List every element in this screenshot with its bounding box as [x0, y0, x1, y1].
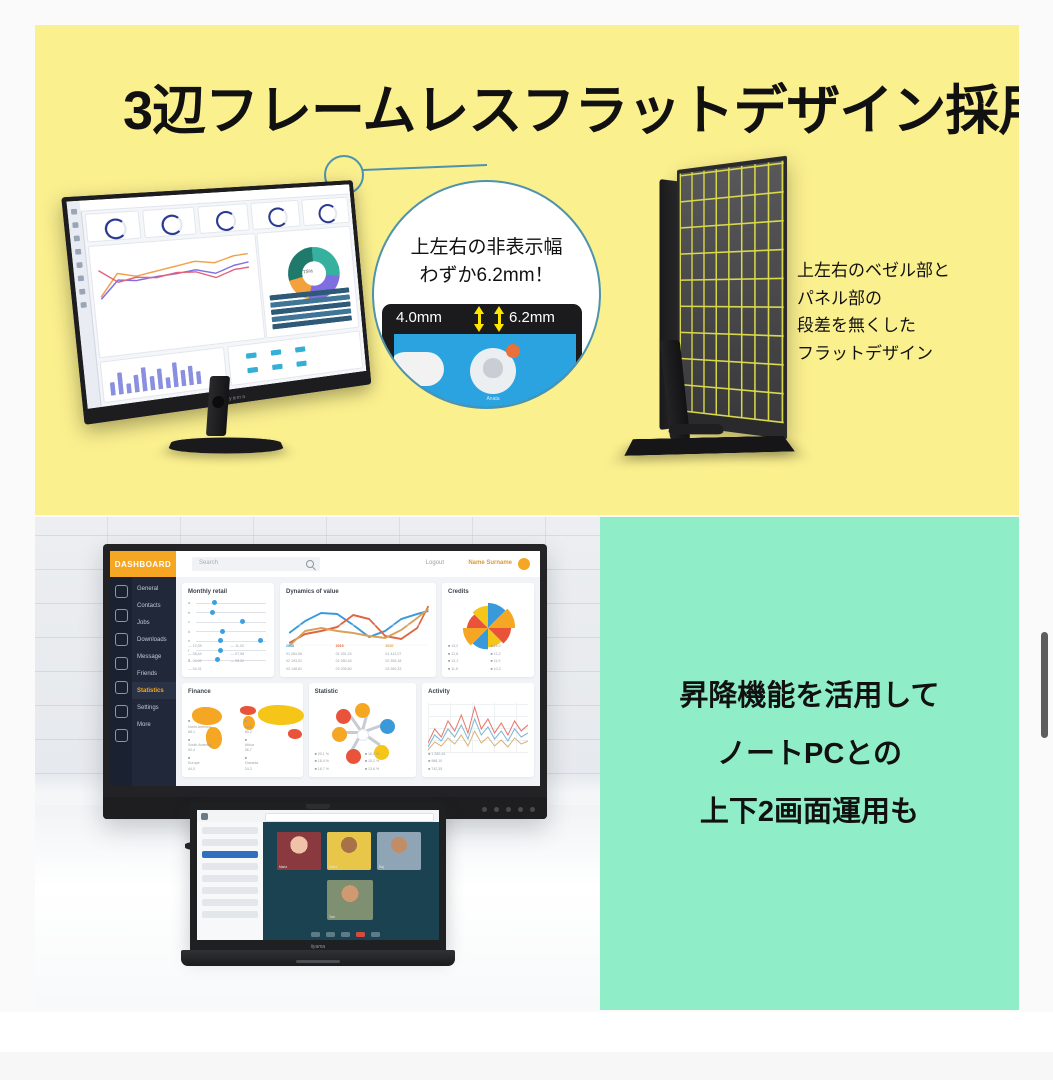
legend-year-2020: 2020 — [385, 644, 393, 649]
slider-row[interactable]: d — [188, 629, 268, 635]
kpi-card — [250, 200, 300, 230]
node-center — [357, 729, 369, 741]
search-input[interactable]: Search — [192, 557, 320, 571]
page-scrollbar[interactable] — [1041, 632, 1048, 738]
slider-row[interactable]: b — [188, 610, 268, 616]
logout-link[interactable]: Logout — [426, 560, 444, 566]
slider-row[interactable]: a — [188, 600, 268, 606]
sales-graph-card: 75% — [256, 226, 359, 339]
card-legend: ■ 14,2■ 12,8■ 13,1■ 11,5 ■ 14,0■ 12,2■ 1… — [448, 644, 528, 672]
end-call-icon[interactable] — [356, 932, 365, 937]
videocall-search-field[interactable] — [265, 813, 434, 822]
participant-name: Raj — [379, 865, 384, 869]
sidebar-row[interactable] — [202, 899, 258, 906]
dashboard-sidebar: General Contacts Jobs Downloads Message … — [110, 577, 176, 786]
card-title: Statistic — [315, 689, 411, 695]
dashboard-content: Monthly retail a b c d e f g — 12,05— 08… — [176, 577, 540, 786]
data-table — [270, 287, 353, 330]
measure-left-label: 4.0mm — [396, 309, 442, 326]
green-text-line3: 上下2画面運用も — [600, 783, 1019, 841]
map-legend-2: South America — [188, 743, 211, 748]
search-icon — [306, 560, 314, 568]
node-bubble — [332, 727, 347, 742]
participant-tile[interactable]: Raj — [377, 832, 421, 870]
callout-heading: 上左右の非表示幅 わずか6.2mm！ — [374, 234, 599, 289]
callout-heading-line2: わずか6.2mm！ — [374, 262, 599, 290]
feature-panel-height-adjust: 昇降機能を活用して ノートPCとの 上下2画面運用も — [600, 517, 1019, 1010]
kpi-card — [84, 210, 141, 242]
page-background-footer — [0, 1052, 1053, 1080]
card-legend: ■ North America 68,1■ South America 52,4… — [188, 719, 297, 772]
monitor-side-stand-foot — [668, 424, 724, 434]
screen-share-icon[interactable] — [326, 932, 335, 937]
green-text-line2: ノートPCとの — [600, 725, 1019, 783]
grid-icon[interactable] — [115, 729, 128, 742]
kpi-card — [142, 207, 197, 239]
right-text-line4: フラットデザイン — [797, 340, 950, 368]
closeup-screen: Anata — [394, 334, 576, 408]
callout-heading-line1: 上左右の非表示幅 — [374, 234, 599, 262]
videocall-stage: Maria Aisha Raj Tom — [263, 822, 439, 940]
monitor-osd-buttons[interactable] — [482, 807, 535, 812]
participant-tile-active[interactable]: Tom — [327, 880, 373, 920]
node-bubble — [355, 703, 370, 718]
sidebar-icon-rail — [110, 577, 132, 786]
card-finance: Finance ■ North America 68,1■ South A — [182, 683, 303, 777]
monitor-panel-angled — [677, 156, 787, 440]
panel-right-description: 上左右のベゼル部と パネル部の 段差を無くした フラットデザイン — [797, 257, 950, 367]
card-legend: — 12,05— 08,44— 06,02— 04,31 — 11,03— 07… — [188, 644, 268, 672]
page-background-lower — [0, 1012, 1053, 1052]
briefcase-icon[interactable] — [115, 633, 128, 646]
card-title: Monthly retail — [188, 589, 268, 595]
videocall-sidebar — [197, 822, 263, 940]
legend-year-2018: 2018 — [286, 644, 294, 649]
map-legend-1: Asia — [245, 725, 252, 730]
monitor-dashboard-screen: DASHBOARD Search Logout Name Surname — [110, 551, 540, 786]
videocall-controls[interactable] — [311, 932, 380, 937]
webcam-icon — [306, 804, 330, 809]
green-panel-text: 昇降機能を活用して ノートPCとの 上下2画面運用も — [600, 667, 1019, 841]
laptop: Maria Aisha Raj Tom — [190, 802, 446, 977]
card-row-bottom: Finance ■ North America 68,1■ South A — [182, 683, 534, 777]
participant-name: Tom — [329, 915, 335, 919]
dashboard-header: DASHBOARD Search Logout Name Surname — [110, 551, 540, 578]
sidebar-row[interactable] — [202, 875, 258, 882]
slider-row[interactable]: e — [188, 638, 268, 644]
laptop-lid: Maria Aisha Raj Tom — [190, 802, 446, 952]
callout-monitor-closeup: 4.0mm 6.2mm Anata — [382, 304, 598, 409]
sidebar-row-active[interactable] — [202, 851, 258, 858]
sidebar-row[interactable] — [202, 827, 258, 834]
measure-arrow-right — [494, 306, 504, 332]
card-legend: 201801 284,5602 193,0203 148,81 201901 3… — [286, 644, 430, 672]
card-row-top: Monthly retail a b c d e f g — 12,05— 08… — [182, 583, 534, 677]
card-credits: Credits — [442, 583, 534, 677]
participant-name: Aisha — [329, 865, 337, 869]
monitor-side-stand-base — [624, 436, 794, 456]
panel-title: 3辺フレームレスフラットデザイン採用 — [123, 80, 983, 142]
map-legend-0: North America — [188, 725, 211, 730]
card-dynamics-of-value: Dynamics of value 201801 284,5602 193,02… — [280, 583, 436, 677]
search-placeholder: Search — [199, 560, 218, 566]
page-root: 3辺フレームレスフラットデザイン採用 — [0, 0, 1053, 1080]
sliders-icon[interactable] — [115, 705, 128, 718]
slider-row[interactable]: c — [188, 619, 268, 625]
mic-icon[interactable] — [341, 932, 350, 937]
sidebar-row[interactable] — [202, 887, 258, 894]
card-title: Activity — [428, 689, 528, 695]
screen-grid-pattern — [680, 161, 784, 424]
card-title: Credits — [448, 589, 528, 595]
bezel-callout-circle: 上左右の非表示幅 わずか6.2mm！ 4.0mm 6.2mm Anata — [372, 180, 601, 409]
feature-panel-frameless: 3辺フレームレスフラットデザイン採用 — [35, 25, 1019, 515]
map-legend-5: Oceania — [245, 761, 258, 766]
participant-tile[interactable]: Maria — [277, 832, 321, 870]
target-icon[interactable] — [115, 585, 128, 598]
kpi-line-chart — [88, 233, 266, 358]
participant-tile[interactable]: Aisha — [327, 832, 371, 870]
card-title: Dynamics of value — [286, 589, 430, 595]
sidebar-row[interactable] — [202, 911, 258, 918]
card-statistic: Statistic — [309, 683, 417, 777]
download-icon[interactable] — [115, 657, 128, 670]
user-icon[interactable] — [115, 609, 128, 622]
measure-arrow-left — [474, 306, 484, 332]
map-legend-4: Europe — [188, 761, 200, 766]
camera-icon[interactable] — [311, 932, 320, 937]
laptop-trackpad-notch — [296, 960, 340, 963]
green-text-line1: 昇降機能を活用して — [600, 667, 1019, 725]
participant-name: Maria — [279, 865, 287, 869]
videocall-topbar — [197, 810, 439, 822]
card-activity: Activity ■ 1 280,44■ 986,10■ 742,35 — [422, 683, 534, 777]
card-monthly-retail: Monthly retail a b c d e f g — 12,05— 08… — [182, 583, 274, 677]
sidebar-row[interactable] — [202, 839, 258, 846]
user-name-label[interactable]: Name Surname — [468, 560, 512, 566]
laptop-keyboard-base — [181, 950, 455, 966]
card-legend: ■ 20,1 %■ 18,4 %■ 16,7 % ■ 16,0 %■ 15,2 … — [315, 752, 411, 772]
volume-icon[interactable] — [371, 932, 380, 937]
card-legend: ■ 1 280,44■ 986,10■ 742,35 — [428, 752, 528, 772]
node-bubble — [336, 709, 351, 724]
kpi-card — [197, 203, 250, 234]
closeup-avatar-name: Anata — [470, 396, 516, 402]
laptop-screen-video-call: Maria Aisha Raj Tom — [197, 810, 439, 940]
monitor-stand-neck — [206, 376, 230, 436]
right-text-line1: 上左右のベゼル部と — [797, 257, 950, 285]
monitor-stand-base — [166, 438, 286, 454]
map-legend-3: Africa — [245, 743, 254, 748]
node-bubble — [380, 719, 395, 734]
sidebar-row[interactable] — [202, 863, 258, 870]
measure-right-label: 6.2mm — [509, 309, 555, 326]
closeup-notification-dot — [506, 344, 520, 358]
lifestyle-photo: DASHBOARD Search Logout Name Surname — [35, 517, 600, 1010]
right-text-line3: 段差を無くした — [797, 312, 950, 340]
videocall-avatar — [201, 813, 208, 820]
kpi-card — [301, 197, 350, 227]
card-title: Finance — [188, 689, 297, 695]
dashboard-logo: DASHBOARD — [110, 551, 176, 577]
activity-area-chart — [428, 703, 528, 753]
closeup-bezel: 4.0mm 6.2mm Anata — [382, 304, 582, 408]
monitor-front-view: 75% — [90, 180, 380, 410]
desktop-monitor: DASHBOARD Search Logout Name Surname — [103, 544, 547, 819]
closeup-pill-shape — [394, 352, 444, 386]
heart-icon[interactable] — [115, 681, 128, 694]
right-text-line2: パネル部の — [797, 285, 950, 313]
legend-year-2019: 2019 — [336, 644, 344, 649]
avatar[interactable] — [518, 558, 530, 570]
